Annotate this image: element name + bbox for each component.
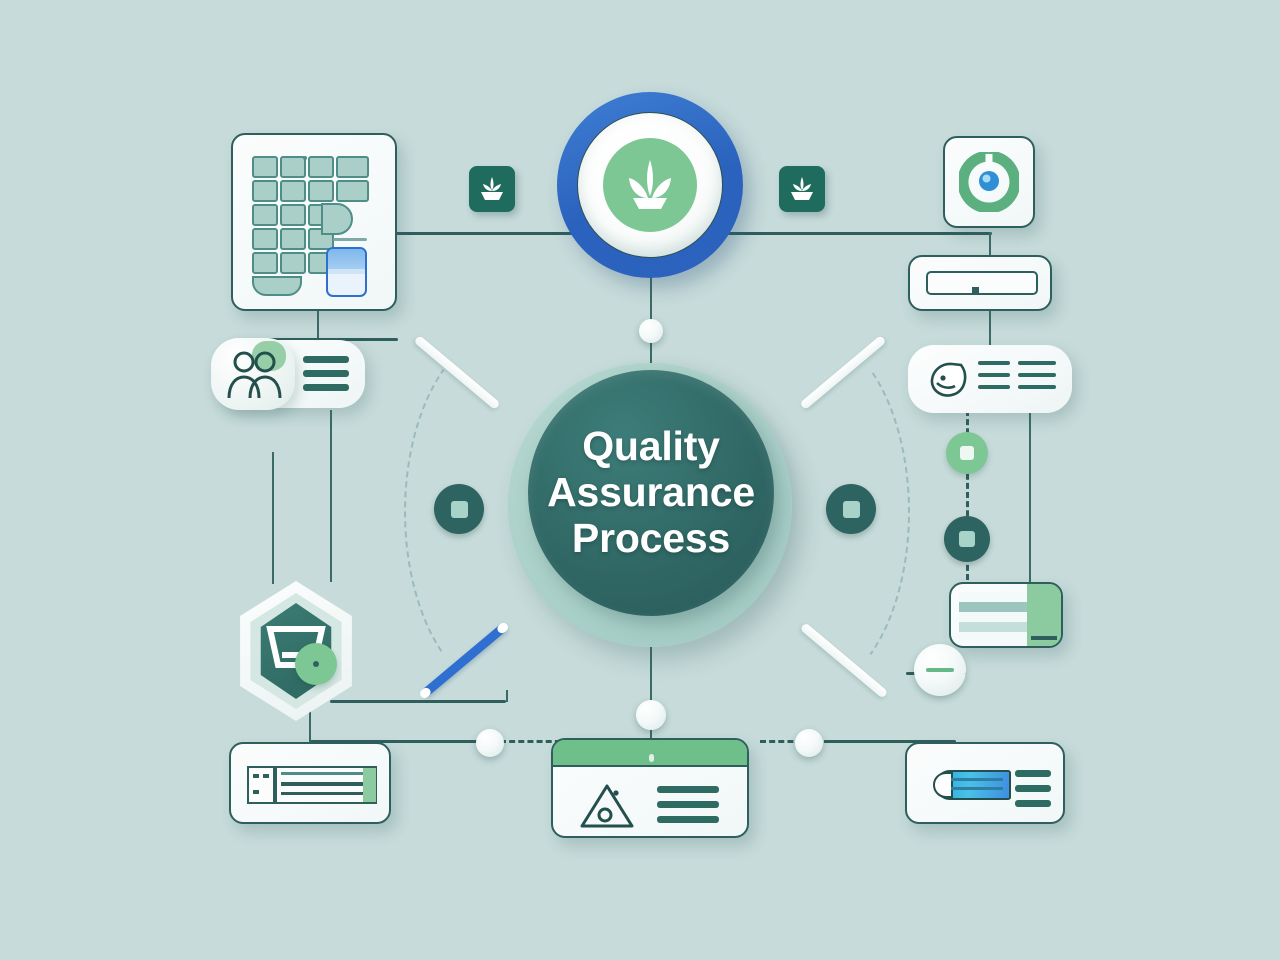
leaf-sprout-icon [619,156,681,214]
ruler-scale-card[interactable] [229,742,391,824]
process-chip-right[interactable] [779,166,825,212]
process-chip-left[interactable] [469,166,515,212]
people-team-icon [224,348,286,404]
leaf-blob-icon [928,361,970,399]
checklist-line [1018,385,1056,389]
diagram-canvas: Quality Assurance Process [0,0,1280,960]
grid-accent-block [326,247,367,297]
hub-title-line-2: Assurance [547,470,755,516]
gauge-ring-card[interactable] [943,136,1035,228]
input-field-card[interactable] [908,255,1052,311]
quality-seal-badge [603,138,697,232]
editor-card-line [1015,770,1051,777]
report-accent-underline [1031,636,1057,640]
checklist-line [978,385,1010,389]
editor-card-line [1015,800,1051,807]
connector-field-stem [989,310,991,346]
stage-marker-dark[interactable] [944,516,990,562]
hexagon-status-badge [295,643,337,685]
checklist-column-2 [1018,361,1056,389]
hub-title-line-3: Process [547,516,755,562]
checklist-line [1018,361,1056,365]
spreadsheet-grid-card[interactable] [231,133,397,311]
hub-title: Quality Assurance Process [533,424,769,562]
striped-report-card[interactable] [949,582,1063,648]
pen-brush-icon [925,766,1011,804]
quality-seal-node[interactable] [557,92,743,278]
gauge-ring-icon [959,152,1019,212]
sprout-bowl-icon [478,176,506,202]
junction-sphere-bottom-center [636,700,666,730]
checklist-column-1 [978,361,1010,389]
editor-pen-card[interactable] [905,742,1065,824]
connector-left-vert-b [330,410,332,582]
connector-hex-arm [330,700,506,703]
connector-hub-to-bottom [650,640,652,750]
hub-circle[interactable]: Quality Assurance Process [528,370,774,616]
quality-seal-inner [577,112,723,258]
alert-summary-card[interactable] [551,738,749,838]
junction-sphere-bottom-left [476,729,504,757]
editor-card-line [1015,785,1051,792]
alert-card-line [657,816,719,823]
hub-title-line-1: Quality [547,424,755,470]
stage-marker-left[interactable] [434,484,484,534]
connector-top-spine-right [720,232,992,235]
measurement-bar-icon [247,766,377,804]
table-grid-icon [233,135,399,313]
text-field-icon[interactable] [926,271,1038,295]
collapse-sphere-right[interactable] [914,644,966,696]
stage-marker-right[interactable] [826,484,876,534]
leaf-checklist-card[interactable] [908,345,1072,413]
connector-right-vert-long [1029,410,1031,582]
checklist-line [978,373,1010,377]
connector-topleft-stem [317,310,319,340]
team-card-line [303,356,349,363]
checklist-line [1018,373,1056,377]
team-card-line [303,384,349,391]
stage-marker-green[interactable] [946,432,988,474]
junction-sphere-bottom-right [795,729,823,757]
warning-triangle-icon [579,782,635,830]
checklist-line [978,361,1010,365]
connector-left-vert-a [272,452,274,584]
alert-card-header [553,740,749,767]
sprout-bowl-icon [788,176,816,202]
alert-card-line [657,801,719,808]
team-card-line [303,370,349,377]
junction-sphere-top [639,319,663,343]
alert-card-line [657,786,719,793]
